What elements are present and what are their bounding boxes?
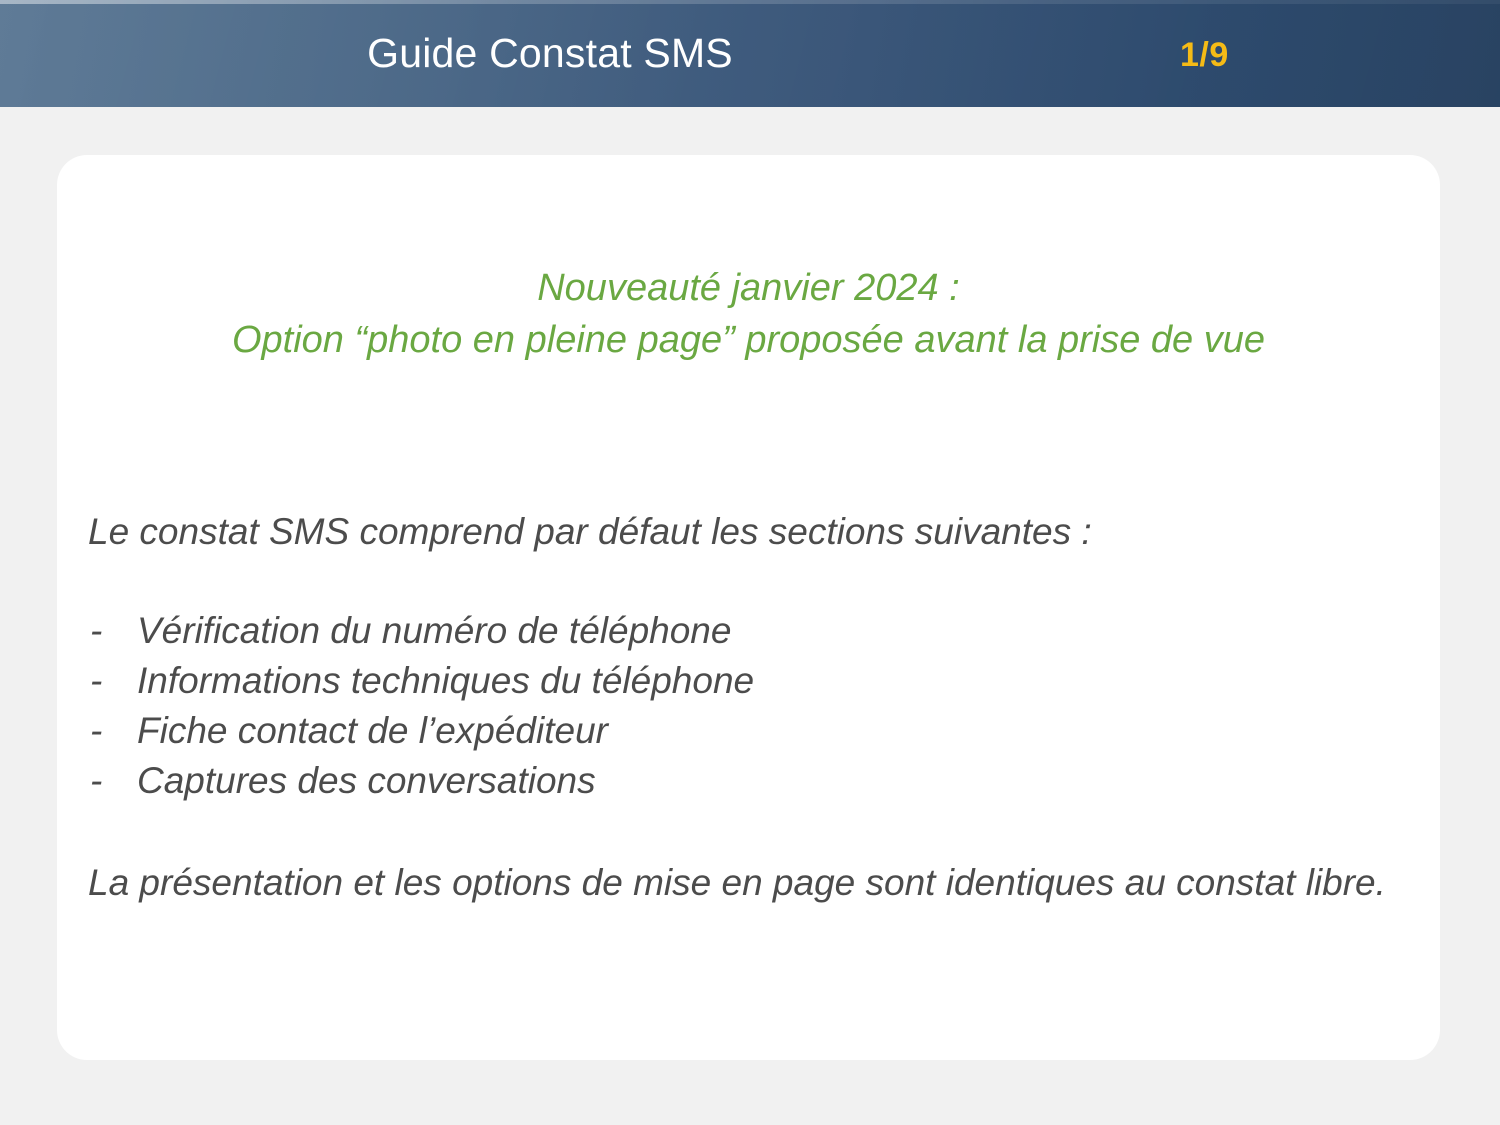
list-item: - Fiche contact de l’expéditeur [88,706,1418,756]
closing-paragraph: La présentation et les options de mise e… [88,858,1418,908]
bullet-dash-icon: - [90,756,102,806]
list-item-label: Captures des conversations [137,760,596,801]
page-title: Guide Constat SMS [0,28,1300,78]
list-item-label: Vérification du numéro de téléphone [137,610,731,651]
header-bar: Guide Constat SMS 1/9 [0,0,1500,107]
bullet-dash-icon: - [90,656,102,706]
list-item-label: Fiche contact de l’expéditeur [137,710,608,751]
body-content: Le constat SMS comprend par défaut les s… [88,507,1418,908]
highlight-heading: Nouveauté janvier 2024 : Option “photo e… [57,262,1440,366]
list-item-label: Informations techniques du téléphone [137,660,754,701]
intro-paragraph: Le constat SMS comprend par défaut les s… [88,507,1418,557]
header-top-highlight [0,0,1500,4]
sections-list: - Vérification du numéro de téléphone - … [88,606,1418,806]
highlight-heading-line-2: Option “photo en pleine page” proposée a… [117,314,1380,366]
bullet-dash-icon: - [90,706,102,756]
bullet-dash-icon: - [90,606,102,656]
list-item: - Captures des conversations [88,756,1418,806]
list-item: - Vérification du numéro de téléphone [88,606,1418,656]
list-item: - Informations techniques du téléphone [88,656,1418,706]
highlight-heading-line-1: Nouveauté janvier 2024 : [117,262,1380,314]
slide-card: Nouveauté janvier 2024 : Option “photo e… [57,155,1440,1060]
page-number-indicator: 1/9 [1180,34,1229,76]
